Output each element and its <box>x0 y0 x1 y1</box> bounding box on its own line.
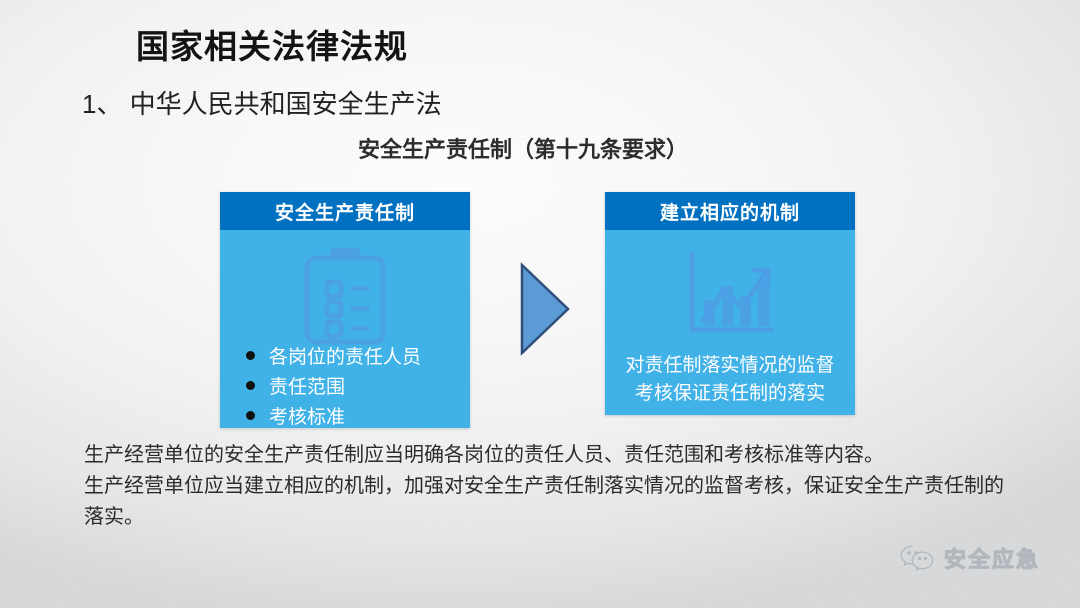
responsibility-bullet-list: 各岗位的责任人员 责任范围 考核标准 <box>246 340 421 430</box>
watermark-label: 安全应急 <box>944 542 1040 574</box>
right-triangle-arrow-icon <box>519 262 571 356</box>
list-item: 责任范围 <box>246 370 421 400</box>
section-subtitle: 安全生产责任制（第十九条要求） <box>358 132 688 164</box>
card-right-line-1: 对责任制落实情况的监督 <box>605 352 855 380</box>
card-safety-responsibility: 安全生产责任制 各岗位的责任人员 责任范围 <box>220 192 470 428</box>
bullet-dot-icon <box>246 351 255 360</box>
bar-chart-trend-icon <box>680 246 780 342</box>
card-right-header: 建立相应的机制 <box>605 192 855 230</box>
clipboard-checklist-icon <box>297 244 393 348</box>
page-title: 国家相关法律法规 <box>136 20 408 68</box>
slide-canvas: 国家相关法律法规 1、 中华人民共和国安全生产法 安全生产责任制（第十九条要求）… <box>0 0 1080 608</box>
card-right-description: 对责任制落实情况的监督 考核保证责任制的落实 <box>605 352 855 408</box>
numbered-item-line: 1、 中华人民共和国安全生产法 <box>82 84 442 121</box>
card-establish-mechanism: 建立相应的机制 对责任制落实情况的监督 考核保证责任制的落实 <box>605 192 855 415</box>
bullet-label: 责任范围 <box>269 372 345 399</box>
bullet-label: 考核标准 <box>269 402 345 429</box>
wechat-icon <box>900 545 934 571</box>
body-paragraph-1: 生产经营单位的安全生产责任制应当明确各岗位的责任人员、责任范围和考核标准等内容。 <box>84 440 1014 471</box>
body-paragraph-block: 生产经营单位的安全生产责任制应当明确各岗位的责任人员、责任范围和考核标准等内容。… <box>84 440 1014 533</box>
bullet-dot-icon <box>246 411 255 420</box>
card-right-line-2: 考核保证责任制的落实 <box>605 380 855 408</box>
body-paragraph-2: 生产经营单位应当建立相应的机制，加强对安全生产责任制落实情况的监督考核，保证安全… <box>84 471 1014 533</box>
card-left-header: 安全生产责任制 <box>220 192 470 230</box>
bullet-dot-icon <box>246 381 255 390</box>
card-left-header-label: 安全生产责任制 <box>275 198 415 225</box>
watermark: 安全应急 <box>900 542 1040 574</box>
list-item: 考核标准 <box>246 400 421 430</box>
bullet-label: 各岗位的责任人员 <box>269 342 421 369</box>
list-item: 各岗位的责任人员 <box>246 340 421 370</box>
card-right-header-label: 建立相应的机制 <box>660 198 800 225</box>
